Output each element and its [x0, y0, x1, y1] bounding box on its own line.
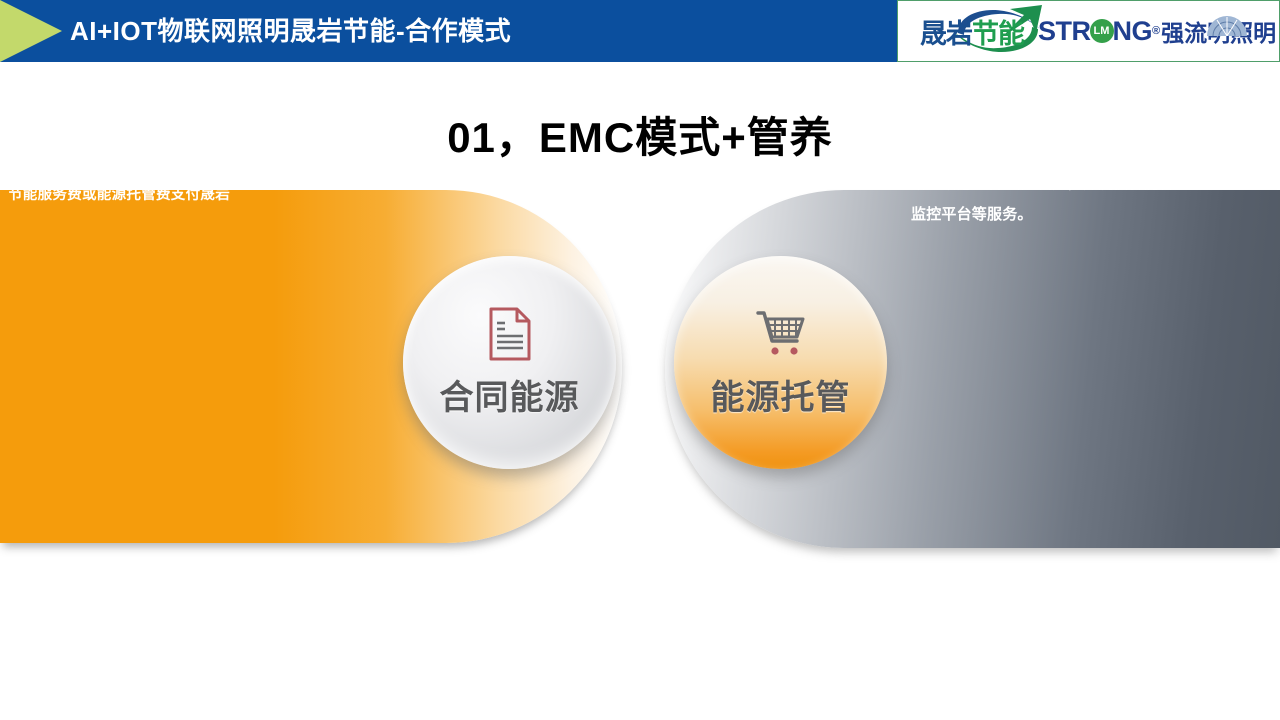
- left-line-5: 节能服务费或能源托管费支付晟岩: [8, 182, 245, 209]
- left-panel-text-block: 用能单位“0投入” 晟岩公司提供一站式托管服务 含照明设备、物联网系统、巡检运维…: [8, 76, 245, 209]
- circle-contract-energy[interactable]: 合同能源: [403, 256, 616, 469]
- circle-label-energy-trusteeship: 能源托管: [711, 370, 851, 419]
- strong-text-b: NG: [1113, 16, 1153, 47]
- fan-arc-icon: [1205, 14, 1249, 36]
- left-line-4: 用能单位无需更换照明设备: [8, 156, 245, 183]
- left-line-2: 晟岩公司提供一站式托管服务: [8, 103, 245, 130]
- logo-cn-part-a: 晟岩: [920, 19, 972, 49]
- left-line-1: 用能单位“0投入”: [8, 76, 245, 103]
- content-area: [0, 190, 1280, 550]
- right-line-1: 用能单位支付晟岩低于原有设备用能费用，: [911, 75, 1263, 106]
- right-line-2: 晟岩将承担为期10至20年的全面托管责任，: [911, 106, 1263, 137]
- slide-header-bar: AI+IOT物联网照明晟岩节能-合作模式 晟岩节能: [0, 0, 1280, 62]
- registered-mark: ®: [1152, 25, 1160, 37]
- logo-chinese-name: 晟岩节能: [920, 12, 1024, 51]
- right-line-5: 监控平台等服务。: [911, 199, 1263, 230]
- logo-cn-part-b: 节能: [972, 19, 1024, 49]
- brand-logo-panel: 晟岩节能 STR LM NG ® 强流明照明: [897, 0, 1280, 62]
- slide-root: AI+IOT物联网照明晟岩节能-合作模式 晟岩节能: [0, 0, 1280, 720]
- document-icon: [482, 306, 538, 362]
- right-panel-text-block: 用能单位支付晟岩低于原有设备用能费用， 晟岩将承担为期10至20年的全面托管责任…: [911, 75, 1263, 230]
- right-line-4: 新、改造、管理及维护 ，并提供智能管理: [911, 168, 1263, 199]
- circle-energy-trusteeship[interactable]: 能源托管: [674, 256, 887, 469]
- circle-label-contract-energy: 合同能源: [440, 370, 580, 419]
- logo-strong-wordmark: STR LM NG ® 强流明照明: [1038, 14, 1276, 48]
- right-chevron-arrow-icon: [0, 0, 62, 62]
- left-line-3: 含照明设备、物联网系统、巡检运维: [8, 129, 245, 156]
- strong-text-a: STR: [1038, 16, 1091, 47]
- shopping-cart-icon: [753, 306, 809, 362]
- right-line-3: 该服务覆盖所有用能费用、节能设备的更: [911, 137, 1263, 168]
- strong-lm-badge: LM: [1090, 19, 1114, 43]
- page-title: AI+IOT物联网照明晟岩节能-合作模式: [70, 0, 511, 62]
